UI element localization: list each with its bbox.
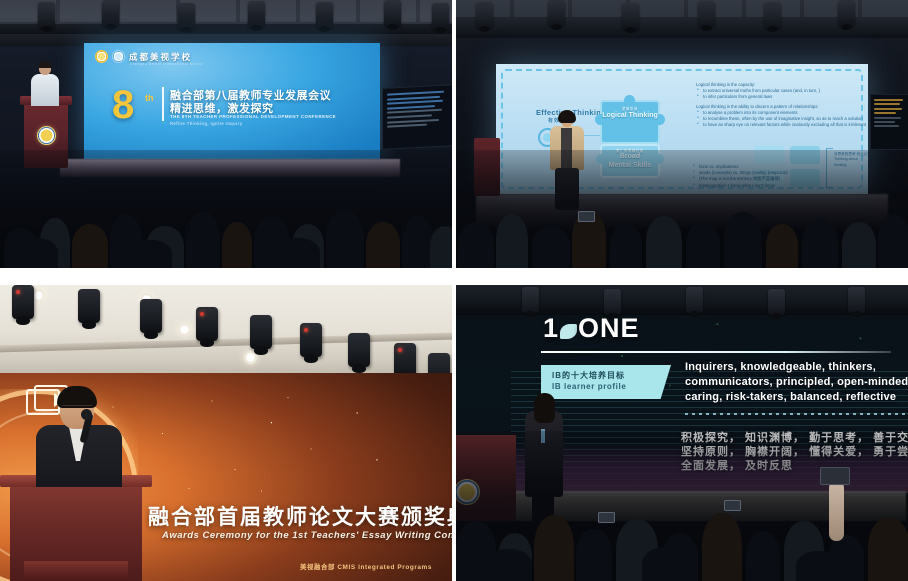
audience-head (534, 515, 574, 581)
stage-light (250, 315, 272, 349)
audience-head (642, 547, 690, 581)
leaf-icon (560, 324, 577, 339)
school-crest-icon (95, 50, 108, 63)
text-line (874, 121, 895, 123)
audience-phone (598, 512, 615, 523)
photo-panel-top-right[interactable]: Effective Thinking 有效思考 逻辑思维 Logical Thi… (456, 0, 908, 268)
audience-head (868, 517, 908, 581)
podium (10, 475, 142, 581)
audience-head (802, 218, 838, 268)
conference-number: 8 (112, 87, 134, 123)
audience-head (276, 238, 320, 268)
text-line (387, 124, 427, 128)
speaker-hair (534, 393, 555, 423)
text-line (387, 109, 442, 114)
audience-head (724, 212, 762, 268)
audience-head (766, 224, 798, 268)
section-word: ONE (578, 313, 640, 343)
audience-head (842, 222, 876, 268)
side-display-screen (870, 94, 908, 150)
text-line (874, 125, 899, 127)
speaker-hair (38, 61, 52, 68)
audience-head (222, 222, 252, 268)
audience-head (878, 214, 908, 268)
audience (456, 431, 908, 581)
text-line (874, 103, 900, 105)
section-number: 1 (543, 313, 559, 343)
stage-light (622, 3, 639, 29)
text-line (874, 108, 902, 110)
school-name-en: Chengdu Meishi International School (130, 62, 203, 66)
audience-head (430, 226, 452, 268)
audience-head (130, 240, 172, 268)
photo-panel-bottom-left[interactable]: 融合部首届教师论文大赛颁奖典礼 Awards Ceremony for the … (0, 285, 452, 581)
backdrop-title-cn: 融合部首届教师论文大赛颁奖典礼 (148, 501, 452, 531)
stage-light (348, 333, 370, 367)
audience-head (326, 210, 364, 268)
audience-head (702, 513, 742, 581)
audience-head (796, 551, 842, 581)
stage-light (316, 2, 333, 28)
speaker-hair (558, 110, 576, 123)
stage-light (432, 3, 449, 29)
audience-head (686, 222, 720, 268)
audience-head (646, 216, 682, 268)
speaker-figure (30, 62, 60, 106)
stage-light (78, 289, 100, 323)
audience-phone (578, 211, 595, 222)
title-divider (162, 87, 164, 121)
stage-light (698, 1, 715, 27)
stage-light (548, 0, 565, 26)
learner-profile-tag: IB的十大培养目标 IB learner profile (541, 365, 671, 399)
organizer-cn: 美视融合部 (300, 564, 335, 571)
stage-light (38, 2, 55, 28)
stage-light (384, 0, 401, 26)
backdrop-organizer: 美视融合部 CMIS Integrated Programs (300, 562, 432, 571)
presentation-screen: 成都美视学校 Chengdu Meishi International Scho… (84, 43, 380, 159)
body-line: to have an sharp eye on relevant factors… (696, 122, 856, 128)
puzzle-piece-logical-thinking: 逻辑思维 Logical Thinking (600, 100, 660, 144)
section-heading: 1ONE (543, 315, 640, 342)
speaker-body (31, 74, 59, 106)
slide-title-en-2: Refine Thinking, Ignite Inquiry (170, 121, 242, 126)
text-line (387, 100, 443, 105)
school-name-cn: 成都美视学校 (129, 51, 192, 63)
audience-head (576, 529, 612, 581)
profile-en-line-1: Inquirers, knowledgeable, thinkers, (685, 361, 876, 373)
indicator-light (16, 290, 20, 294)
text-line (387, 114, 432, 118)
audience-head (532, 226, 570, 268)
indicator-light (398, 348, 402, 352)
audience-phone (724, 500, 741, 511)
audience-head (18, 238, 58, 268)
slide-title-en-1: THE 8TH TEACHER PROFESSIONAL DEVELOPMENT… (170, 114, 336, 119)
indicator-light (200, 312, 204, 316)
audience (0, 150, 452, 268)
tag-label-cn: IB的十大培养目标 (552, 370, 671, 381)
audience (456, 150, 908, 268)
audience-head (486, 549, 532, 581)
audience-head (366, 222, 400, 268)
audience-phone-camera (820, 467, 850, 485)
stage-light (140, 299, 162, 333)
audience-head (186, 212, 220, 268)
speaker-figure (36, 389, 122, 485)
tag-label-en: IB learner profile (552, 382, 671, 391)
audience-head (496, 214, 528, 268)
profile-en-line-3: caring, risk-takers, balanced, reflectiv… (685, 391, 896, 403)
school-crest-icon (37, 126, 56, 145)
raised-arm (829, 481, 844, 541)
audience-head (610, 224, 642, 268)
stage-light (838, 0, 855, 26)
profile-en-line-2: communicators, principled, open-minded, (685, 376, 908, 388)
ceiling (0, 285, 452, 381)
stage-light (394, 343, 416, 377)
stage-light (248, 1, 265, 27)
stage-light (12, 285, 34, 319)
text-line (874, 99, 903, 101)
audience-head (72, 224, 108, 268)
stage-light (178, 3, 195, 29)
puzzle-label-cn: 逻辑思维 (600, 106, 660, 111)
indicator-light (304, 328, 308, 332)
microphone-head (81, 409, 92, 420)
photo-panel-bottom-right[interactable]: 1ONE IB的十大培养目标 IB learner profile Inquir… (456, 285, 908, 581)
heading-rule (541, 351, 891, 353)
audience-head (458, 222, 494, 268)
dotted-separator (685, 413, 908, 415)
body-line: to infer particulars from general laws (696, 94, 856, 100)
conference-ordinal: th (145, 93, 154, 103)
text-line (874, 117, 901, 119)
backdrop-title-en: Awards Ceremony for the 1st Teachers' Es… (162, 530, 452, 541)
photo-collage: 成都美视学校 Chengdu Meishi International Scho… (0, 0, 908, 581)
organizer-en: CMIS Integrated Programs (337, 564, 432, 571)
slide-body-text: Logical thinking is the capacity: to ext… (696, 82, 856, 128)
side-display-screen (382, 84, 452, 150)
stage-light (476, 2, 493, 28)
photo-panel-top-left[interactable]: 成都美视学校 Chengdu Meishi International Scho… (0, 0, 452, 268)
secondary-crest-icon (112, 50, 125, 63)
audience-head (746, 531, 780, 581)
stage-light (300, 323, 322, 357)
ceiling-downlight (178, 323, 191, 336)
lighting-truss (0, 24, 452, 34)
text-line (387, 105, 435, 110)
text-line (387, 118, 439, 123)
podium-base (24, 561, 128, 581)
stage-light (196, 307, 218, 341)
puzzle-label-en: Logical Thinking (600, 112, 660, 121)
text-line (387, 91, 444, 96)
text-line (874, 112, 896, 114)
puzzle-knob (624, 95, 635, 106)
stage-light (764, 2, 781, 28)
stage-light (102, 0, 119, 26)
